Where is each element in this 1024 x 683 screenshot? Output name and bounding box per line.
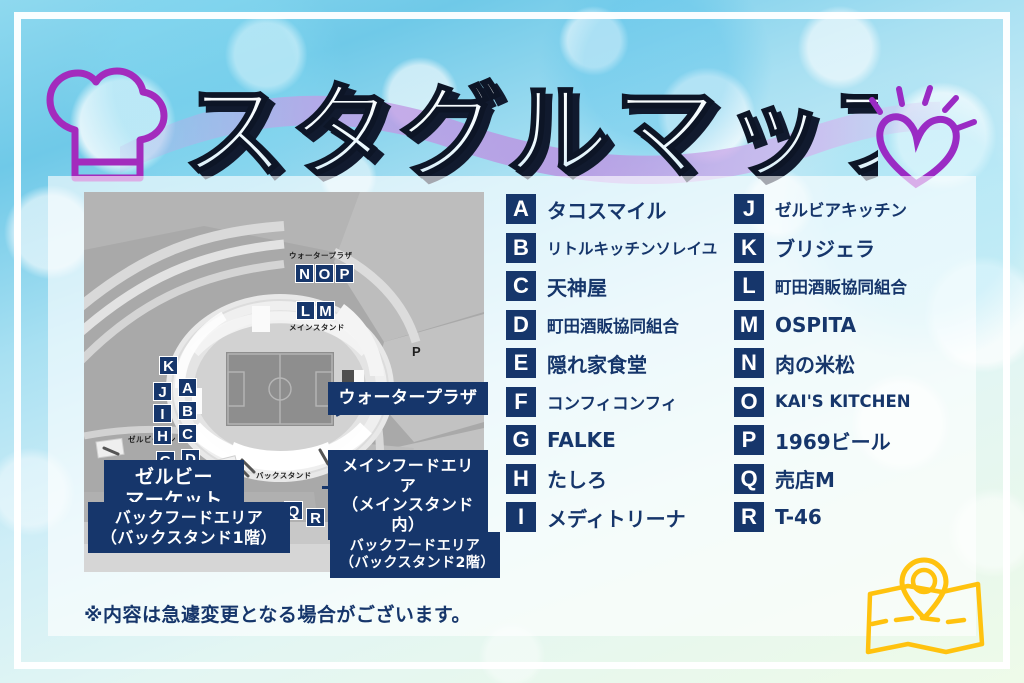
legend-row-o[interactable]: OKAI'S KITCHEN: [734, 383, 960, 422]
map-marker-j[interactable]: J: [153, 382, 172, 401]
callout-back-food-2f[interactable]: バックフードエリア （バックスタンド2階）: [330, 532, 500, 578]
map-marker-a[interactable]: A: [178, 378, 197, 397]
disclaimer-note: ※内容は急遽変更となる場合がございます。: [84, 600, 471, 627]
legend-name-j: ゼルビアキッチン: [775, 197, 907, 221]
map-marker-o[interactable]: O: [315, 264, 334, 283]
map-marker-r[interactable]: R: [306, 508, 325, 527]
map-marker-m[interactable]: M: [316, 301, 335, 320]
map-marker-b[interactable]: B: [178, 401, 197, 420]
map-marker-c[interactable]: C: [178, 424, 197, 443]
legend-badge-g: G: [506, 425, 536, 455]
callout-main-food-line1: メインフードエリア: [342, 456, 474, 495]
legend-badge-l: L: [734, 271, 764, 301]
legend-name-q: 売店M: [775, 464, 835, 493]
legend-row-a[interactable]: Aタコスマイル: [506, 190, 732, 229]
legend-name-i: メディトリーナ: [547, 503, 686, 532]
legend-badge-p: P: [734, 425, 764, 455]
legend-name-k: ブリジェラ: [775, 233, 875, 262]
legend-name-n: 肉の米松: [775, 349, 855, 378]
legend-badge-d: D: [506, 310, 536, 340]
legend-name-e: 隠れ家食堂: [547, 349, 647, 378]
title-band: スタグルマップ スタグルマップ: [0, 28, 1024, 168]
legend-badge-b: B: [506, 233, 536, 263]
legend-name-r: T-46: [775, 505, 822, 529]
legend-badge-o: O: [734, 387, 764, 417]
callout-back-1f-line1: バックフードエリア: [115, 508, 264, 527]
page-title: スタグルマップ スタグルマップ: [178, 72, 878, 192]
legend-badge-f: F: [506, 387, 536, 417]
legend-row-e[interactable]: E隠れ家食堂: [506, 344, 732, 383]
legend-name-p: 1969ビール: [775, 426, 891, 455]
svg-text:スタグルマップ: スタグルマップ: [182, 72, 878, 193]
legend-name-b: リトルキッチンソレイユ: [547, 237, 717, 259]
callout-water-plaza[interactable]: ウォータープラザ: [328, 382, 488, 415]
legend-badge-e: E: [506, 348, 536, 378]
legend-badge-n: N: [734, 348, 764, 378]
legend-column-right: JゼルビアキッチンKブリジェラL町田酒販協同組合MOSPITAN肉の米松OKAI…: [734, 190, 960, 537]
legend-name-c: 天神屋: [547, 272, 607, 301]
callout-back-food-1f-main[interactable]: バックフードエリア （バックスタンド1階）: [88, 502, 290, 553]
callout-zelvy-market-line1: ゼルビー: [135, 466, 213, 488]
legend-row-r[interactable]: RT-46: [734, 498, 960, 537]
legend-row-p[interactable]: P1969ビール: [734, 421, 960, 460]
legend-name-a: タコスマイル: [547, 195, 666, 224]
legend-name-l: 町田酒販協同組合: [775, 274, 907, 298]
legend-name-o: KAI'S KITCHEN: [775, 392, 911, 411]
legend-badge-a: A: [506, 194, 536, 224]
legend-row-d[interactable]: D町田酒販協同組合: [506, 306, 732, 345]
callout-back-1f-line2: （バックスタンド1階）: [98, 528, 280, 548]
legend-row-m[interactable]: MOSPITA: [734, 306, 960, 345]
legend-row-g[interactable]: GFALKE: [506, 421, 732, 460]
legend-row-l[interactable]: L町田酒販協同組合: [734, 267, 960, 306]
legend-row-i[interactable]: Iメディトリーナ: [506, 498, 732, 537]
legend-row-q[interactable]: Q売店M: [734, 460, 960, 499]
legend-row-h[interactable]: Hたしろ: [506, 460, 732, 499]
legend-row-b[interactable]: Bリトルキッチンソレイユ: [506, 229, 732, 268]
legend-badge-j: J: [734, 194, 764, 224]
parking-marker-1: P: [412, 344, 421, 359]
legend-badge-q: Q: [734, 464, 764, 494]
legend-row-c[interactable]: C天神屋: [506, 267, 732, 306]
legend-name-f: コンフィコンフィ: [547, 390, 677, 414]
map-label-main-stand: メインスタンド: [289, 322, 345, 333]
map-label-back-stand: バックスタンド: [256, 470, 312, 481]
legend-badge-r: R: [734, 502, 764, 532]
map-marker-l[interactable]: L: [296, 301, 315, 320]
map-label-water-plaza: ウォータープラザ: [289, 250, 353, 261]
callout-main-food-line2: （メインスタンド内）: [338, 495, 478, 534]
map-marker-h[interactable]: H: [153, 426, 172, 445]
legend-name-h: たしろ: [547, 464, 607, 493]
legend-row-f[interactable]: Fコンフィコンフィ: [506, 383, 732, 422]
legend-name-d: 町田酒販協同組合: [547, 313, 679, 337]
legend-badge-h: H: [506, 464, 536, 494]
map-marker-i[interactable]: I: [153, 404, 172, 423]
legend-name-g: FALKE: [547, 428, 616, 452]
map-marker-n[interactable]: N: [295, 264, 314, 283]
callout-back-2f-line2: （バックスタンド2階）: [340, 555, 490, 572]
callout-water-plaza-line1: ウォータープラザ: [339, 388, 478, 408]
legend-row-j[interactable]: Jゼルビアキッチン: [734, 190, 960, 229]
legend-badge-c: C: [506, 271, 536, 301]
legend-badge-i: I: [506, 502, 536, 532]
legend-badge-k: K: [734, 233, 764, 263]
legend-name-m: OSPITA: [775, 313, 856, 337]
legend-badge-m: M: [734, 310, 764, 340]
legend-column-left: AタコスマイルBリトルキッチンソレイユC天神屋D町田酒販協同組合E隠れ家食堂Fコ…: [506, 190, 732, 537]
legend-row-n[interactable]: N肉の米松: [734, 344, 960, 383]
map-marker-k[interactable]: K: [159, 356, 178, 375]
map-marker-p[interactable]: P: [335, 264, 354, 283]
map-pin-icon: [856, 548, 992, 660]
content-panel: ウォータープラザ メインスタンド バックスタンド ゼルビーランド P P NOP…: [48, 176, 976, 636]
callout-back-2f-line1: バックフードエリア: [350, 538, 481, 554]
legend-row-k[interactable]: Kブリジェラ: [734, 229, 960, 268]
legend: AタコスマイルBリトルキッチンソレイユC天神屋D町田酒販協同組合E隠れ家食堂Fコ…: [506, 190, 968, 572]
callout-main-food[interactable]: メインフードエリア （メインスタンド内）: [328, 450, 488, 540]
